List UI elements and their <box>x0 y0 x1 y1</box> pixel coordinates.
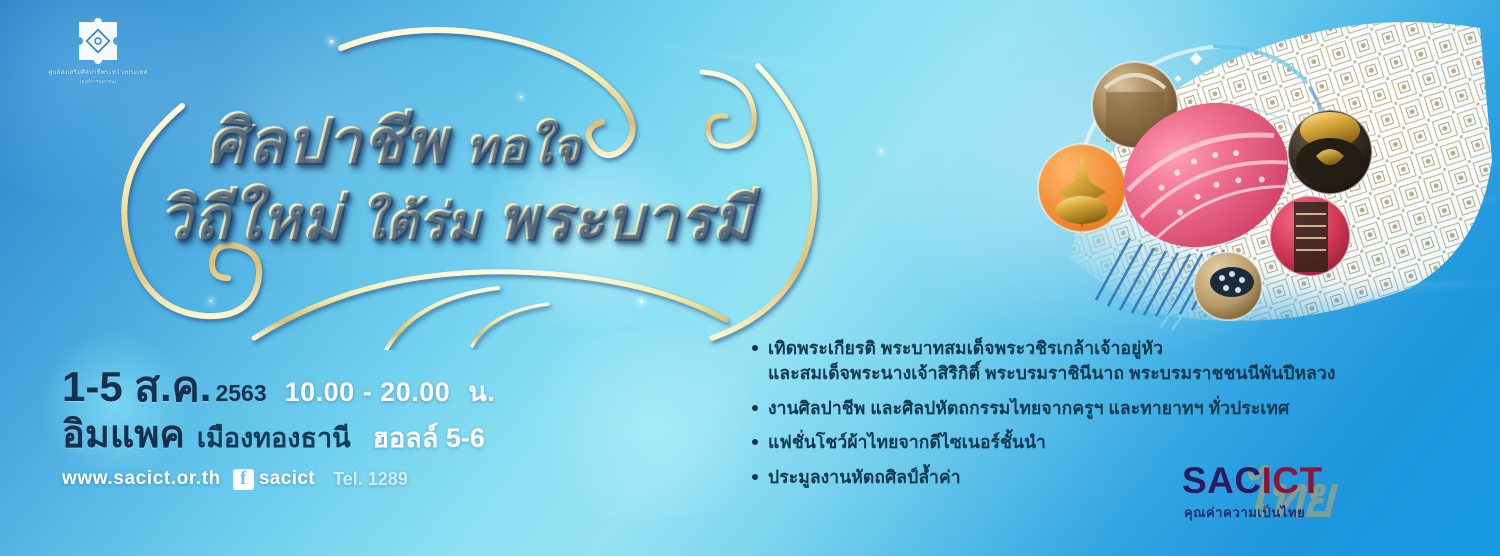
facebook-icon <box>233 469 254 490</box>
bullet-line: งานศิลปาชีพ และศิลปหัตถกรรมไทยจากครูฯ แล… <box>768 398 1289 418</box>
headline-line1-main: ศิลปาชีพ <box>206 107 446 176</box>
event-year: 2563 <box>215 380 266 406</box>
list-item: งานศิลปาชีพ และศิลปหัตถกรรมไทยจากครูฯ แล… <box>752 396 1452 421</box>
brand-tagline: คุณค่าความเป็นไทย <box>1184 502 1305 523</box>
product-circle <box>1092 62 1178 148</box>
product-circle <box>1102 79 1310 272</box>
product-circle <box>1288 110 1372 194</box>
bullet-line: และสมเด็จพระนางเจ้าสิริกิติ์ พระบรมราชิน… <box>768 361 1336 386</box>
headline-block: ศิลปาชีพ ทอใจ วิถีใหม่ ใต้ร่ม พระบารมี <box>98 72 838 322</box>
event-info: 1-5 ส.ค.256310.00 - 20.00น. อิมแพคเมืองท… <box>62 366 622 490</box>
list-item: เทิดพระเกียรติ พระบาทสมเด็จพระวชิรเกล้าเ… <box>752 336 1452 387</box>
venue-row: อิมแพคเมืองทองธานีฮอลล์ 5-6 <box>62 416 622 454</box>
headline-line2-main2: พระบารมี <box>497 184 752 251</box>
sacict-diamond-logo-icon <box>75 18 121 64</box>
bullet-content: เทิดพระเกียรติ พระบาทสมเด็จพระวชิรเกล้าเ… <box>768 336 1336 387</box>
headline-line2-main: วิถีใหม่ <box>158 184 341 251</box>
decorative-arcs <box>1085 46 1333 182</box>
bullet-line: ประมูลงานหัตถศิลป์ล้ำค่า <box>768 467 961 487</box>
brand-name-part2: ICT <box>1262 460 1323 501</box>
headline-line2-sub: ใต้ร่ม <box>359 193 480 249</box>
light-streak <box>1180 108 1500 136</box>
bullet-line: แฟชั่นโชว์ผ้าไทยจากดีไซเนอร์ชั้นนำ <box>768 432 1046 452</box>
bullet-icon <box>752 474 758 480</box>
bullet-content: แฟชั่นโชว์ผ้าไทยจากดีไซเนอร์ชั้นนำ <box>768 430 1046 455</box>
venue-name: อิมแพค <box>62 414 185 456</box>
facebook-handle: sacict <box>259 468 315 490</box>
bullet-icon <box>752 345 758 351</box>
venue-location: เมืองทองธานี <box>197 423 351 453</box>
collage-svg <box>1010 10 1500 340</box>
sacict-brand-logo: ไทย SACICT คุณค่าความเป็นไทย <box>1182 458 1432 528</box>
venue-hall: ฮอลล์ 5-6 <box>373 423 485 453</box>
bullet-line: เทิดพระเกียรติ พระบาทสมเด็จพระวชิรเกล้าเ… <box>768 338 1163 358</box>
light-streak <box>1200 279 1500 295</box>
product-circle <box>1270 196 1350 276</box>
website-link[interactable]: www.sacict.or.th <box>62 468 221 490</box>
date-row: 1-5 ส.ค.256310.00 - 20.00น. <box>62 366 622 408</box>
product-circle <box>1038 144 1126 232</box>
bullet-content: ประมูลงานหัตถศิลป์ล้ำค่า <box>768 465 961 490</box>
list-item: แฟชั่นโชว์ผ้าไทยจากดีไซเนอร์ชั้นนำ <box>752 430 1452 455</box>
event-time: 10.00 - 20.00 <box>285 377 451 407</box>
sparkle-icon <box>880 150 882 152</box>
headline-line-2: วิถีใหม่ ใต้ร่ม พระบารมี <box>158 170 752 265</box>
event-time-unit: น. <box>468 377 495 407</box>
headline-line1-sub: ทอใจ <box>465 120 581 173</box>
brand-name-part1: SAC <box>1182 460 1262 501</box>
brand-name: SACICT <box>1182 460 1323 502</box>
bullet-content: งานศิลปาชีพ และศิลปหัตถกรรมไทยจากครูฯ แล… <box>768 396 1289 421</box>
sparkle-icon <box>330 40 333 43</box>
hatch-lines-light <box>1160 262 1218 330</box>
telephone: Tel. 1289 <box>333 469 408 490</box>
bullet-icon <box>752 405 758 411</box>
product-circle <box>1194 252 1262 320</box>
event-banner: ศูนย์ส่งเสริมศิลปาชีพระหว่างประเทศ (องค์… <box>0 0 1500 556</box>
bullet-icon <box>752 439 758 445</box>
contact-row: www.sacict.or.th sacict Tel. 1289 <box>62 468 622 490</box>
hatch-lines <box>1096 238 1224 316</box>
decorative-diamond <box>1174 52 1223 82</box>
light-streak <box>1150 195 1500 219</box>
event-date: 1-5 ส.ค. <box>62 363 211 410</box>
facebook-link[interactable]: sacict <box>233 468 315 490</box>
product-collage <box>1010 10 1500 340</box>
thai-pattern-fan <box>1070 22 1492 321</box>
